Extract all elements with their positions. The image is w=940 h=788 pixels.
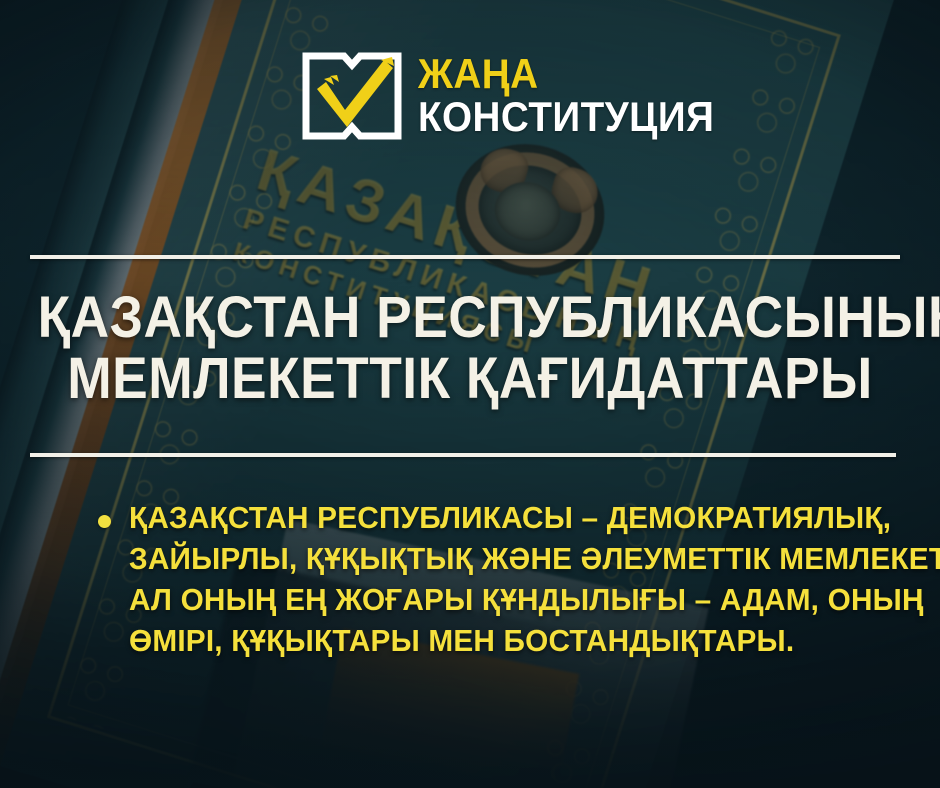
divider-middle — [30, 453, 896, 457]
brand-logo-line1: ЖАҢА — [418, 55, 714, 94]
brand-logo-wordmark: ЖАҢА КОНСТИТУЦИЯ — [418, 55, 740, 136]
principle-text-line3: АЛ ОНЫҢ ЕҢ ЖОҒАРЫ ҚҰНДЫЛЫҒЫ – АДАМ, ОНЫҢ — [129, 580, 940, 621]
page-title-line2: МЕМЛЕКЕТТІК ҚАҒИДАТТАРЫ — [38, 349, 903, 410]
principle-text-line4: ӨМІРІ, ҚҰҚЫҚТАРЫ МЕН БОСТАНДЫҚТАРЫ. — [129, 621, 940, 662]
principle-text: ҚАЗАҚСТАН РЕСПУБЛИКАСЫ – ДЕМОКРАТИЯЛЫҚ, … — [129, 498, 940, 662]
poster-root: ҚАЗАҚСТАН РЕСПУБЛИКАСЫНЫҢ КОНСТИТУЦИЯСЫ — [0, 0, 940, 788]
page-title-line1: ҚАЗАҚСТАН РЕСПУБЛИКАСЫНЫҢ — [38, 288, 903, 349]
principle-text-line1: ҚАЗАҚСТАН РЕСПУБЛИКАСЫ – ДЕМОКРАТИЯЛЫҚ, — [129, 498, 940, 539]
divider-top — [30, 255, 900, 259]
poster-content: ЖАҢА КОНСТИТУЦИЯ ҚАЗАҚСТАН РЕСПУБЛИКАСЫН… — [0, 0, 940, 788]
brand-logo-line2: КОНСТИТУЦИЯ — [418, 98, 714, 137]
bullet-point-icon — [98, 515, 111, 528]
page-title: ҚАЗАҚСТАН РЕСПУБЛИКАСЫНЫҢ МЕМЛЕКЕТТІК ҚА… — [38, 288, 903, 410]
principle-text-line2: ЗАЙЫРЛЫ, ҚҰҚЫҚТЫҚ ЖӘНЕ ӘЛЕУМЕТТІК МЕМЛЕК… — [129, 539, 940, 580]
brand-logo: ЖАҢА КОНСТИТУЦИЯ — [300, 48, 740, 144]
open-book-check-icon — [300, 48, 404, 144]
principle-bullet-item: ҚАЗАҚСТАН РЕСПУБЛИКАСЫ – ДЕМОКРАТИЯЛЫҚ, … — [98, 498, 880, 662]
